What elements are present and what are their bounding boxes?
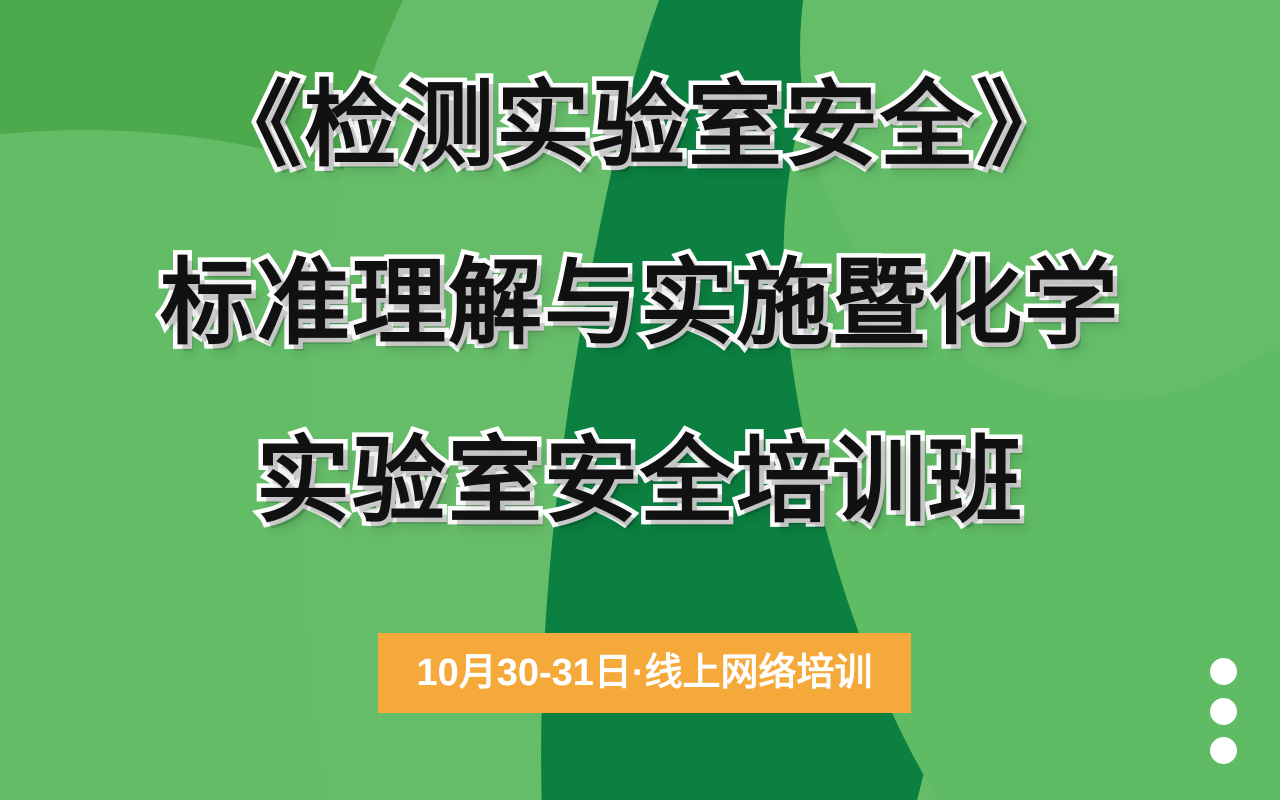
decorative-dot-3-icon	[1210, 737, 1237, 764]
date-banner-label: 10月30-31日·线上网络培训	[416, 654, 872, 692]
date-banner: 10月30-31日·线上网络培训	[378, 633, 911, 713]
decorative-dot-group	[1208, 658, 1238, 764]
decorative-dot-1-icon	[1210, 658, 1237, 685]
poster-title-block: 《检测实验室安全》 标准理解与实施暨化学 实验室安全培训班	[0, 0, 1280, 528]
title-line-3: 实验室安全培训班	[0, 434, 1280, 528]
title-line-1: 《检测实验室安全》	[0, 78, 1280, 172]
decorative-dot-2-icon	[1210, 698, 1237, 725]
title-line-2: 标准理解与实施暨化学	[0, 256, 1280, 350]
poster-canvas: 《检测实验室安全》 标准理解与实施暨化学 实验室安全培训班 10月30-31日·…	[0, 0, 1280, 800]
